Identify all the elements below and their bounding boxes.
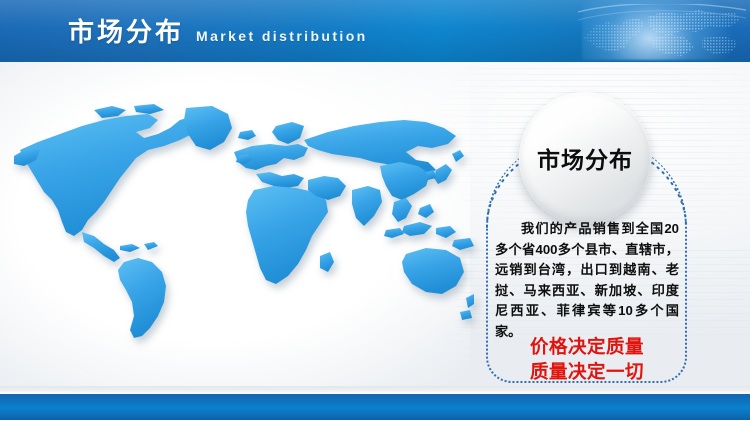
badge-circle: 市场分布 (519, 92, 651, 224)
page-title-en: Market distribution (196, 28, 368, 44)
footer-margin (0, 420, 750, 440)
slogan-line-1: 价格决定质量 (492, 334, 682, 359)
badge-label: 市场分布 (537, 141, 633, 175)
slide-canvas: 市场分布 Market distribution (0, 0, 750, 440)
panel-body-text: 我们的产品销售到全国20多个省400多个县市、直辖市，远销到台湾，出口到越南、老… (495, 219, 679, 343)
world-map-icon (8, 104, 474, 340)
page-title: 市场分布 Market distribution (68, 12, 368, 49)
page-title-cn: 市场分布 (68, 12, 184, 49)
footer-divider (0, 386, 750, 394)
footer-bar (0, 394, 750, 420)
digital-globe-icon (572, 0, 750, 62)
slide-header: 市场分布 Market distribution (0, 0, 750, 62)
panel-slogan: 价格决定质量 质量决定一切 (492, 334, 682, 384)
slogan-line-2: 质量决定一切 (492, 359, 682, 384)
